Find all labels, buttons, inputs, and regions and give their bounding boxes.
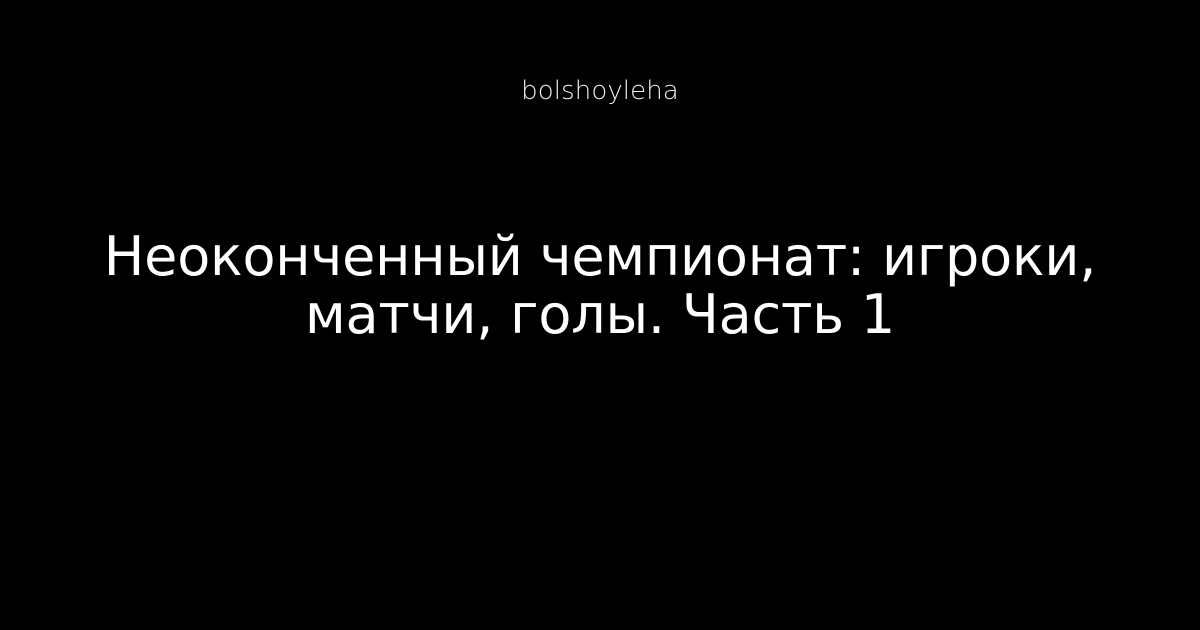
- page-title-line-1: Неоконченный чемпионат: игроки,: [70, 228, 1130, 286]
- social-preview-card: bolshoyleha Неоконченный чемпионат: игро…: [0, 0, 1200, 630]
- page-title: Неоконченный чемпионат: игроки, матчи, г…: [70, 228, 1130, 344]
- author-handle: bolshoyleha: [521, 78, 679, 104]
- empty-lower-area: [0, 380, 1200, 630]
- headline-block: Неоконченный чемпионат: игроки, матчи, г…: [0, 228, 1200, 344]
- page-title-line-2: матчи, голы. Часть 1: [70, 286, 1130, 344]
- author-row: bolshoyleha: [0, 78, 1200, 104]
